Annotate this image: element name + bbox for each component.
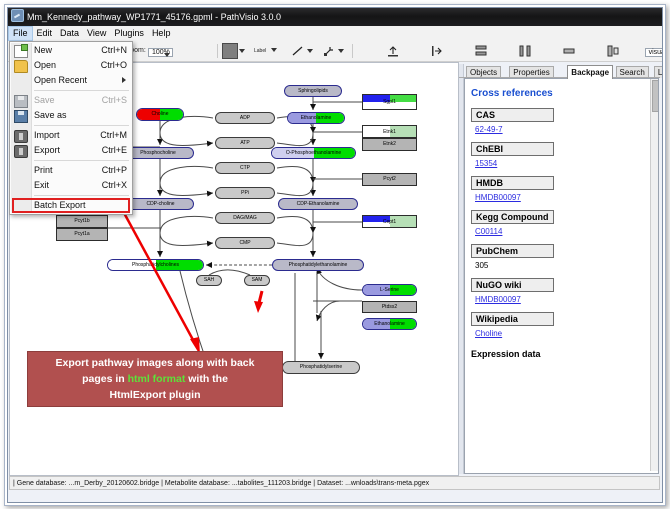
tab-label: Search <box>620 68 645 77</box>
menu-help[interactable]: Help <box>148 26 175 41</box>
same-width-icon[interactable] <box>473 43 489 59</box>
menu-item-label: Save as <box>34 110 67 120</box>
xref-value-wikipedia[interactable]: Choline <box>471 326 657 338</box>
xref-header-hmdb: HMDB <box>471 176 554 190</box>
chevron-down-icon <box>338 49 344 53</box>
batch-export-highlight <box>12 198 130 213</box>
backpage-title: Cross references <box>471 88 657 99</box>
menu-item-shortcut: Ctrl+M <box>100 128 127 143</box>
xref-value-chebi[interactable]: 15354 <box>471 156 657 168</box>
tab-label: Objects <box>470 68 497 77</box>
line-tool[interactable] <box>290 43 313 59</box>
menu-item-shortcut: Ctrl+N <box>101 43 127 58</box>
gene-product-icon <box>222 43 238 59</box>
save-as-icon <box>14 110 28 123</box>
xref-header-wikipedia: Wikipedia <box>471 312 554 326</box>
chevron-down-icon <box>307 49 313 53</box>
file-menu-item-save-as[interactable]: Save as <box>10 108 132 123</box>
menu-bar[interactable]: FileEditDataViewPluginsHelp <box>8 26 662 42</box>
menu-item-label: Exit <box>34 180 49 190</box>
chevron-down-icon <box>271 48 277 52</box>
xref-value-hmdb[interactable]: HMDB00097 <box>471 190 657 202</box>
menu-item-label: New <box>34 45 52 55</box>
receptor-icon <box>321 43 337 59</box>
expression-data-heading: Expression data <box>471 349 657 359</box>
file-menu-item-export[interactable]: ExportCtrl+E <box>10 143 132 158</box>
cross-reference-list: CAS62-49-7ChEBI15354HMDBHMDB00097Kegg Co… <box>471 108 657 338</box>
menu-view[interactable]: View <box>83 26 110 41</box>
menu-separator <box>34 125 129 126</box>
zoom-combo[interactable]: 100% <box>148 48 173 57</box>
screenshot-root: Mm_Kennedy_pathway_WP1771_45176.gpml - P… <box>0 0 670 509</box>
window-title: Mm_Kennedy_pathway_WP1771_45176.gpml - P… <box>27 12 281 22</box>
xref-header-pubchem: PubChem <box>471 244 554 258</box>
chevron-right-icon <box>122 77 126 83</box>
xref-link[interactable]: Choline <box>475 329 502 338</box>
receptor-tool[interactable] <box>321 43 344 59</box>
backpage-panel[interactable]: Cross references CAS62-49-7ChEBI15354HMD… <box>464 78 659 474</box>
chevron-down-icon <box>164 53 170 57</box>
export-icon <box>14 145 28 158</box>
backpage-scrollbar[interactable] <box>650 79 658 471</box>
label-tool-text: Label <box>254 43 270 59</box>
menu-item-shortcut: Ctrl+P <box>102 163 127 178</box>
annotation-line2-b: with the <box>185 373 228 385</box>
align-middle-icon[interactable] <box>561 43 577 59</box>
distribute-horizontal-icon[interactable] <box>517 43 533 59</box>
annotation-highlight: html format <box>128 373 186 385</box>
menu-file[interactable]: File <box>8 26 33 41</box>
xref-link[interactable]: C00114 <box>475 227 502 236</box>
new-document-icon <box>14 45 28 58</box>
xref-value-cas[interactable]: 62-49-7 <box>471 122 657 134</box>
visualization-combo[interactable]: visualization <box>645 48 663 57</box>
file-menu-item-exit[interactable]: ExitCtrl+X <box>10 178 132 193</box>
menu-item-label: Open <box>34 60 56 70</box>
open-folder-icon <box>14 60 28 73</box>
file-menu-item-new[interactable]: NewCtrl+N <box>10 43 132 58</box>
menu-item-label: Print <box>34 165 53 175</box>
scrollbar-thumb[interactable] <box>652 80 659 112</box>
tab-backpage[interactable]: Backpage <box>567 65 613 79</box>
menu-separator <box>34 160 129 161</box>
line-icon <box>290 43 306 59</box>
import-icon <box>14 130 28 143</box>
xref-link[interactable]: HMDB00097 <box>475 193 521 202</box>
annotation-line1: Export pathway images along with back <box>56 357 255 369</box>
file-menu-item-print[interactable]: PrintCtrl+P <box>10 163 132 178</box>
menu-item-label: Open Recent <box>34 75 87 85</box>
tab-label: Legend <box>658 68 663 77</box>
xref-value-nugo-wiki[interactable]: HMDB00097 <box>471 292 657 304</box>
menu-plugins[interactable]: Plugins <box>110 26 148 41</box>
pathvisio-window: Mm_Kennedy_pathway_WP1771_45176.gpml - P… <box>7 7 663 503</box>
menu-item-label: Save <box>34 95 55 105</box>
menu-item-shortcut: Ctrl+X <box>102 178 127 193</box>
menu-item-shortcut: Ctrl+O <box>101 58 127 73</box>
xref-header-kegg-compound: Kegg Compound <box>471 210 554 224</box>
xref-link[interactable]: HMDB00097 <box>475 295 521 304</box>
menu-separator <box>34 90 129 91</box>
tab-label: Backpage <box>571 68 609 77</box>
menu-item-label: Import <box>34 130 60 140</box>
file-menu-item-save: SaveCtrl+S <box>10 93 132 108</box>
align-top-icon[interactable] <box>385 43 401 59</box>
xref-header-nugo-wiki: NuGO wiki <box>471 278 554 292</box>
file-menu-dropdown[interactable]: NewCtrl+NOpenCtrl+OOpen RecentSaveCtrl+S… <box>9 41 133 215</box>
align-left-icon[interactable] <box>429 43 445 59</box>
app-icon <box>11 9 24 22</box>
xref-header-chebi: ChEBI <box>471 142 554 156</box>
save-disk-icon <box>14 95 28 108</box>
gene-product-tool[interactable] <box>222 43 245 59</box>
file-menu-item-open[interactable]: OpenCtrl+O <box>10 58 132 73</box>
menu-item-shortcut: Ctrl+E <box>102 143 127 158</box>
menu-item-shortcut: Ctrl+S <box>102 93 127 108</box>
file-menu-item-batch-export[interactable]: Batch Export <box>10 198 132 213</box>
menu-separator <box>34 195 129 196</box>
annotation-callout: Export pathway images along with back pa… <box>27 351 283 407</box>
xref-link[interactable]: 15354 <box>475 159 497 168</box>
status-bar: | Gene database: ...m_Derby_20120602.bri… <box>9 476 660 490</box>
menu-item-label: Export <box>34 145 60 155</box>
annotation-line2-a: pages in <box>82 373 128 385</box>
visualization-value: visualization <box>649 49 663 56</box>
side-panel[interactable]: ObjectsPropertiesBackpageSearchLegend Cr… <box>459 62 660 474</box>
annotation-line3: HtmlExport plugin <box>110 389 201 401</box>
chevron-down-icon <box>239 49 245 53</box>
xref-value-kegg-compound[interactable]: C00114 <box>471 224 657 236</box>
xref-link[interactable]: 62-49-7 <box>475 125 503 134</box>
xref-value-pubchem: 305 <box>471 258 657 270</box>
title-bar: Mm_Kennedy_pathway_WP1771_45176.gpml - P… <box>8 8 662 26</box>
file-menu-item-open-recent[interactable]: Open Recent <box>10 73 132 88</box>
same-height-icon[interactable] <box>605 43 621 59</box>
menu-data[interactable]: Data <box>56 26 83 41</box>
tab-label: Properties <box>513 68 549 77</box>
menu-edit[interactable]: Edit <box>33 26 57 41</box>
xref-header-cas: CAS <box>471 108 554 122</box>
file-menu-item-import[interactable]: ImportCtrl+M <box>10 128 132 143</box>
label-tool[interactable]: Label <box>254 43 277 59</box>
